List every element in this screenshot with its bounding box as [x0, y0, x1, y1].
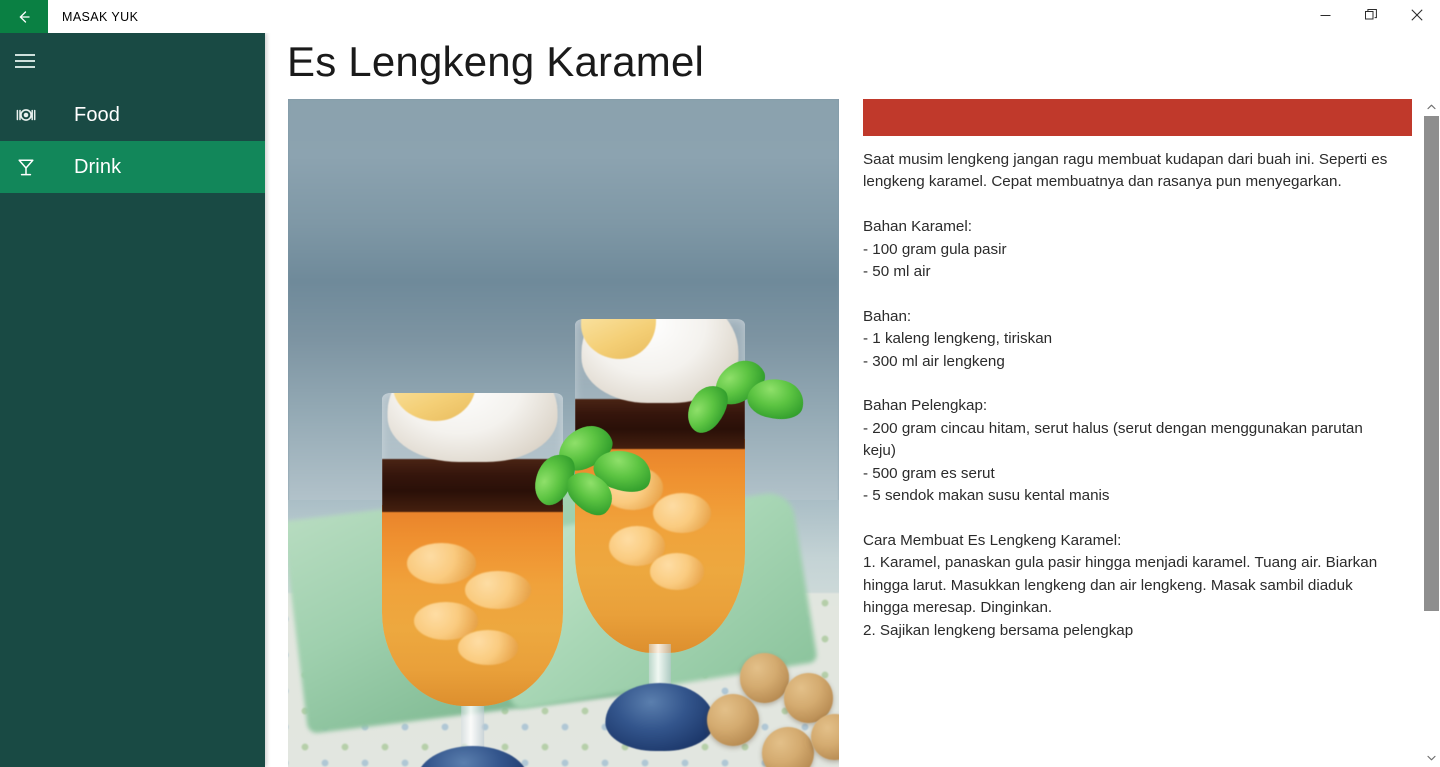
scrollbar-thumb[interactable]: [1424, 116, 1439, 611]
photo-glass-back-base: [605, 683, 714, 751]
hamburger-icon: [15, 54, 35, 68]
recipe-photo-artwork: [288, 99, 839, 767]
back-button[interactable]: [0, 0, 48, 33]
photo-mint-sprig-front: [525, 426, 657, 513]
app-title: MASAK YUK: [48, 0, 138, 33]
recipe-description: Saat musim lengkeng jangan ragu membuat …: [863, 149, 1399, 642]
restore-button[interactable]: [1348, 0, 1394, 33]
arrow-left-icon: [14, 7, 34, 27]
vertical-scrollbar[interactable]: [1423, 99, 1440, 767]
scroll-up-button[interactable]: [1423, 99, 1440, 116]
hamburger-menu-button[interactable]: [0, 33, 265, 89]
close-icon: [1411, 8, 1423, 26]
photo-longan-in-glass: [407, 543, 476, 584]
chevron-up-icon: [1427, 104, 1436, 112]
sidebar-item-food[interactable]: Food: [0, 89, 265, 141]
photo-longan-in-glass: [458, 630, 518, 664]
sidebar-item-food-label: Food: [74, 104, 120, 127]
red-banner: [863, 99, 1412, 136]
photo-longan-fruit: [707, 694, 759, 746]
photo-glass-front-base: [416, 746, 529, 767]
content-area: Es Lengkeng Karamel: [265, 33, 1440, 767]
restore-icon: [1365, 8, 1377, 26]
photo-glass-front-liquid: [382, 505, 564, 705]
minimize-icon: [1320, 8, 1331, 26]
photo-mint-sprig-back: [674, 360, 806, 447]
titlebar-spacer: [138, 0, 1302, 33]
title-bar: MASAK YUK: [0, 0, 1440, 33]
recipe-text-column: Saat musim lengkeng jangan ragu membuat …: [863, 99, 1414, 767]
photo-longan-in-glass: [465, 571, 530, 609]
photo-longan-fruit: [740, 653, 790, 702]
recipe-photo: [288, 99, 839, 767]
app-window: MASAK YUK: [0, 0, 1440, 767]
scrollbar-track[interactable]: [1423, 116, 1440, 750]
chevron-down-icon: [1427, 755, 1436, 763]
window-controls: [1302, 0, 1440, 33]
close-button[interactable]: [1394, 0, 1440, 33]
photo-longan-in-glass: [653, 493, 711, 533]
scroll-down-button[interactable]: [1423, 750, 1440, 767]
plate-cutlery-icon: [2, 104, 50, 126]
minimize-button[interactable]: [1302, 0, 1348, 33]
photo-longan-in-glass: [650, 553, 705, 590]
page-title: Es Lengkeng Karamel: [287, 38, 704, 86]
sidebar: Food Drink: [0, 33, 265, 767]
sidebar-item-drink-label: Drink: [74, 156, 121, 179]
sidebar-item-drink[interactable]: Drink: [0, 141, 265, 193]
cocktail-glass-icon: [2, 156, 50, 178]
